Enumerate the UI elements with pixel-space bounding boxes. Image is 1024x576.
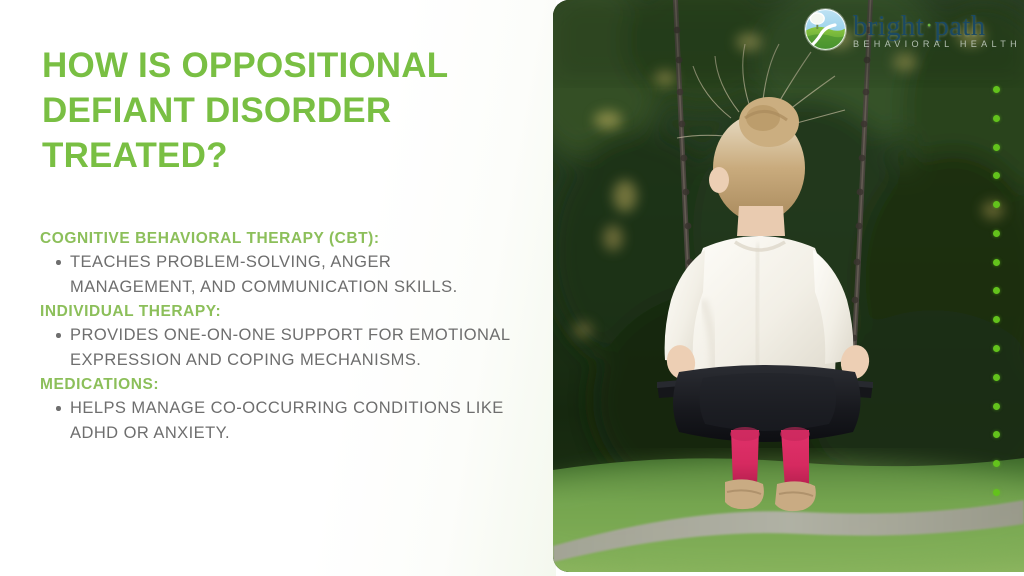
decorative-dot-icon [993, 431, 1000, 438]
decorative-dot-icon [993, 172, 1000, 179]
decorative-dot-icon [993, 316, 1000, 323]
treatment-section: Individual Therapy: Provides one-on-one … [40, 301, 520, 372]
decorative-dot-icon [993, 230, 1000, 237]
section-bullet-list: Helps manage co-occurring conditions lik… [40, 396, 520, 445]
list-item-text: Provides one-on-one support for emotiona… [70, 326, 510, 369]
bullet-dot-icon [56, 333, 61, 338]
section-bullet-list: Provides one-on-one support for emotiona… [40, 323, 520, 372]
list-item: Provides one-on-one support for emotiona… [40, 323, 520, 372]
content-panel: How is Oppositional Defiant Disorder Tre… [0, 0, 556, 576]
decorative-dot-icon [993, 403, 1000, 410]
treatment-sections: Cognitive Behavioral Therapy (CBT): Teac… [40, 228, 520, 447]
photo-illustration [553, 0, 1024, 572]
decorative-dot-icon [993, 115, 1000, 122]
slide-canvas: How is Oppositional Defiant Disorder Tre… [0, 0, 1024, 576]
bullet-dot-icon [56, 260, 61, 265]
section-bullet-list: Teaches problem-solving, anger managemen… [40, 250, 520, 299]
brand-separator-dot-icon: · [924, 13, 934, 39]
brand-logo-mark-icon [805, 9, 846, 50]
list-item-text: Teaches problem-solving, anger managemen… [70, 253, 458, 296]
decorative-dot-icon [993, 287, 1000, 294]
brand-word-second: path [934, 10, 985, 42]
dot-column-decoration [992, 86, 1000, 496]
decorative-dot-icon [993, 489, 1000, 496]
section-heading: Cognitive Behavioral Therapy (CBT): [40, 228, 520, 250]
list-item: Helps manage co-occurring conditions lik… [40, 396, 520, 445]
brand-wordmark: bright·path [853, 11, 1021, 41]
hero-photo [553, 0, 1024, 572]
decorative-dot-icon [993, 460, 1000, 467]
section-heading: Medications: [40, 374, 520, 396]
page-title: How is Oppositional Defiant Disorder Tre… [42, 43, 512, 178]
treatment-section: Cognitive Behavioral Therapy (CBT): Teac… [40, 228, 520, 299]
decorative-dot-icon [993, 86, 1000, 93]
brand-logo[interactable]: bright·path Behavioral Health [805, 9, 1021, 50]
decorative-dot-icon [993, 201, 1000, 208]
treatment-section: Medications: Helps manage co-occurring c… [40, 374, 520, 445]
brand-word-first: bright [853, 10, 924, 42]
brand-logo-text: bright·path Behavioral Health [853, 10, 1021, 49]
decorative-dot-icon [993, 345, 1000, 352]
list-item-text: Helps manage co-occurring conditions lik… [70, 399, 504, 442]
list-item: Teaches problem-solving, anger managemen… [40, 250, 520, 299]
decorative-dot-icon [993, 259, 1000, 266]
section-heading: Individual Therapy: [40, 301, 520, 323]
decorative-dot-icon [993, 374, 1000, 381]
bullet-dot-icon [56, 406, 61, 411]
decorative-dot-icon [993, 144, 1000, 151]
brand-tagline: Behavioral Health [853, 39, 1021, 49]
